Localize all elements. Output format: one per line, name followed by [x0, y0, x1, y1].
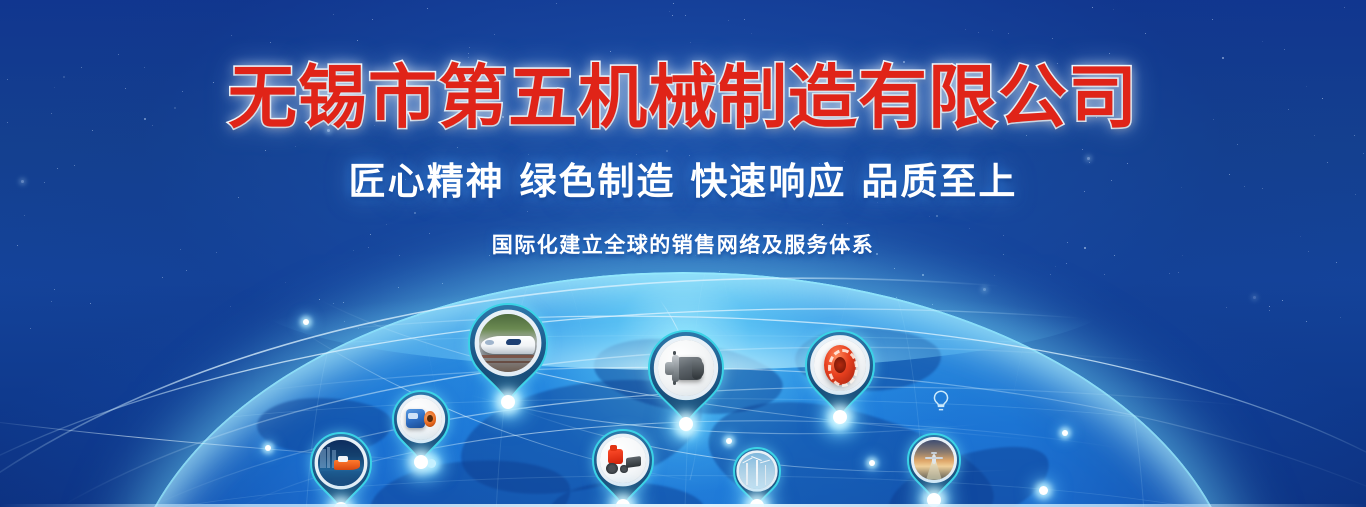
star [1169, 273, 1170, 274]
pin-tip-glow [679, 417, 693, 431]
pin-photo [739, 453, 774, 488]
pin-body [468, 303, 548, 403]
pin-photo [914, 440, 953, 479]
pin-body [648, 330, 724, 425]
star [1066, 263, 1067, 264]
pin-photo [318, 440, 363, 485]
pin-photo [479, 314, 537, 372]
banner-subtitle: 匠心精神 绿色制造 快速响应 品质至上 [0, 133, 1366, 205]
star [285, 282, 286, 283]
map-pin-high-speed-train[interactable] [468, 303, 548, 403]
star [894, 268, 895, 269]
pin-body [310, 432, 372, 507]
star [1269, 306, 1270, 307]
pin-tip-glow [501, 395, 515, 409]
pin-photo [600, 437, 645, 482]
pin-body [592, 429, 654, 507]
company-title: 无锡市第五机械制造有限公司 [0, 0, 1366, 133]
pin-photo [814, 339, 865, 390]
star [54, 289, 55, 290]
star [333, 303, 334, 304]
star [1253, 296, 1256, 299]
star [1282, 300, 1283, 301]
banner-tagline: 国际化建立全球的销售网络及服务体系 [0, 205, 1366, 259]
network-node [869, 460, 875, 466]
star [442, 283, 443, 284]
star [1336, 262, 1337, 263]
star [994, 275, 995, 276]
network-node [265, 445, 271, 451]
hero-banner: 无锡市第五机械制造有限公司 匠心精神 绿色制造 快速响应 品质至上 国际化建立全… [0, 0, 1366, 507]
star [90, 303, 91, 304]
star [1178, 272, 1179, 273]
map-pin-red-rotor-part[interactable] [805, 330, 875, 418]
banner-text-block: 无锡市第五机械制造有限公司 匠心精神 绿色制造 快速响应 品质至上 国际化建立全… [0, 0, 1366, 259]
pin-tip-glow [833, 410, 847, 424]
star [1269, 310, 1270, 311]
map-pin-red-tractor[interactable] [592, 429, 654, 507]
star [1226, 307, 1227, 308]
map-pin-gearbox-part[interactable] [648, 330, 724, 425]
longitude-line [997, 272, 1148, 507]
star [30, 328, 31, 329]
star [186, 270, 187, 271]
star [319, 299, 320, 300]
map-pin-blue-machine-part[interactable] [392, 390, 450, 463]
pin-tip-glow [414, 455, 428, 469]
pin-photo [658, 340, 713, 395]
map-pin-wind-turbine[interactable] [733, 447, 781, 507]
network-node [1039, 486, 1048, 495]
star [51, 301, 52, 302]
pin-body [907, 433, 961, 501]
star [230, 306, 231, 307]
pin-body [805, 330, 875, 418]
star [162, 277, 163, 278]
pin-body [392, 390, 450, 463]
network-node [1062, 430, 1068, 436]
pin-body [733, 447, 781, 507]
lightbulb-icon [928, 388, 954, 414]
map-pin-port-ship[interactable] [310, 432, 372, 507]
network-node [726, 438, 732, 444]
map-pin-airplane-runway[interactable] [907, 433, 961, 501]
star [932, 304, 933, 305]
star [1306, 321, 1307, 322]
star [1055, 266, 1056, 267]
star [1104, 274, 1105, 275]
network-node [303, 319, 309, 325]
star [983, 288, 986, 291]
star [1340, 317, 1341, 318]
pin-photo [400, 398, 442, 440]
star [922, 274, 924, 276]
